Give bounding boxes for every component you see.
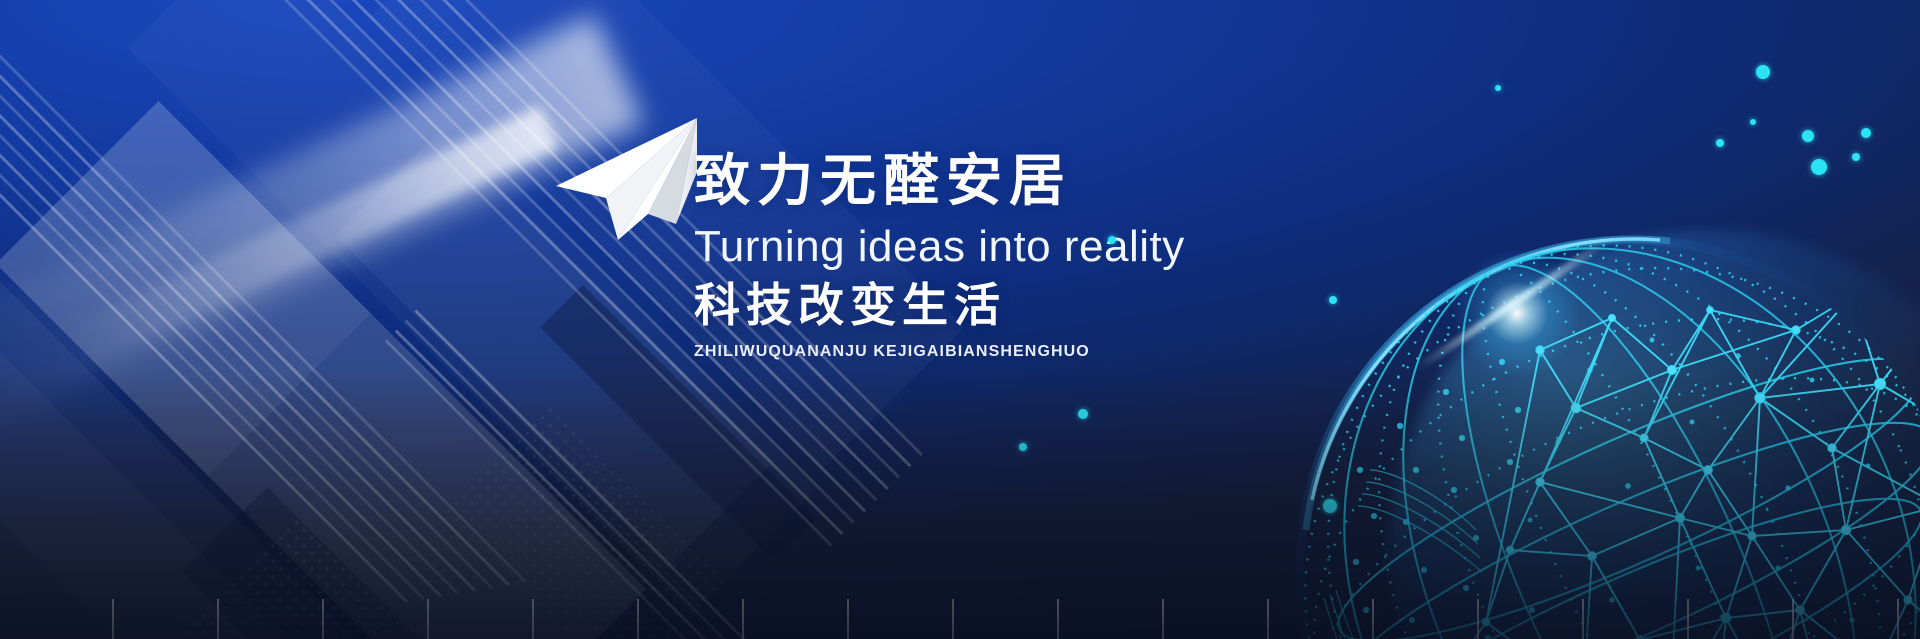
- floating-dot: [1852, 153, 1860, 161]
- floating-dot: [1495, 85, 1501, 91]
- tick-mark: [1162, 599, 1164, 639]
- floating-dot: [1323, 499, 1337, 513]
- globe-atmosphere-glow: [1390, 230, 1920, 639]
- plane-light-trail-core: [50, 106, 559, 376]
- halftone-dots: [441, 405, 724, 639]
- floating-dot: [1019, 443, 1027, 451]
- tick-mark: [1582, 599, 1584, 639]
- floating-dot: [1078, 409, 1088, 419]
- floating-dot: [1756, 65, 1770, 79]
- pinyin-caption: ZHILIWUQUANANJU KEJIGAIBIANSHENGHUO: [694, 343, 1454, 361]
- floating-dot: [1750, 119, 1756, 125]
- tick-mark: [637, 599, 639, 639]
- tick-mark: [1057, 599, 1059, 639]
- tagline-english: Turning ideas into reality: [694, 219, 1454, 274]
- floating-dot: [1811, 159, 1827, 175]
- tick-mark: [217, 599, 219, 639]
- subheadline-chinese: 科技改变生活: [694, 278, 1454, 333]
- floating-dot: [1108, 236, 1116, 244]
- banner-copy: 致力无醛安居 Turning ideas into reality 科技改变生活…: [694, 150, 1454, 361]
- halftone-dots: [149, 514, 510, 639]
- floating-dot: [1716, 139, 1724, 147]
- paper-plane-icon: [548, 112, 718, 252]
- tick-mark: [742, 599, 744, 639]
- tick-mark: [1267, 599, 1269, 639]
- floating-dot: [1861, 128, 1871, 138]
- tick-mark: [532, 599, 534, 639]
- hero-banner: 致力无醛安居 Turning ideas into reality 科技改变生活…: [0, 0, 1920, 639]
- tick-mark: [847, 599, 849, 639]
- tick-mark: [112, 599, 114, 639]
- bottom-tick-marks: [0, 595, 1920, 639]
- floating-dot: [1329, 296, 1337, 304]
- tick-mark: [952, 599, 954, 639]
- tick-mark: [1372, 599, 1374, 639]
- tick-mark: [1897, 599, 1899, 639]
- tick-mark: [1477, 599, 1479, 639]
- tick-mark: [322, 599, 324, 639]
- tick-mark: [1792, 599, 1794, 639]
- tick-mark: [1687, 599, 1689, 639]
- tick-mark: [427, 599, 429, 639]
- floating-dot: [1802, 130, 1814, 142]
- plane-light-trail: [0, 14, 644, 444]
- headline-chinese: 致力无醛安居: [694, 150, 1454, 213]
